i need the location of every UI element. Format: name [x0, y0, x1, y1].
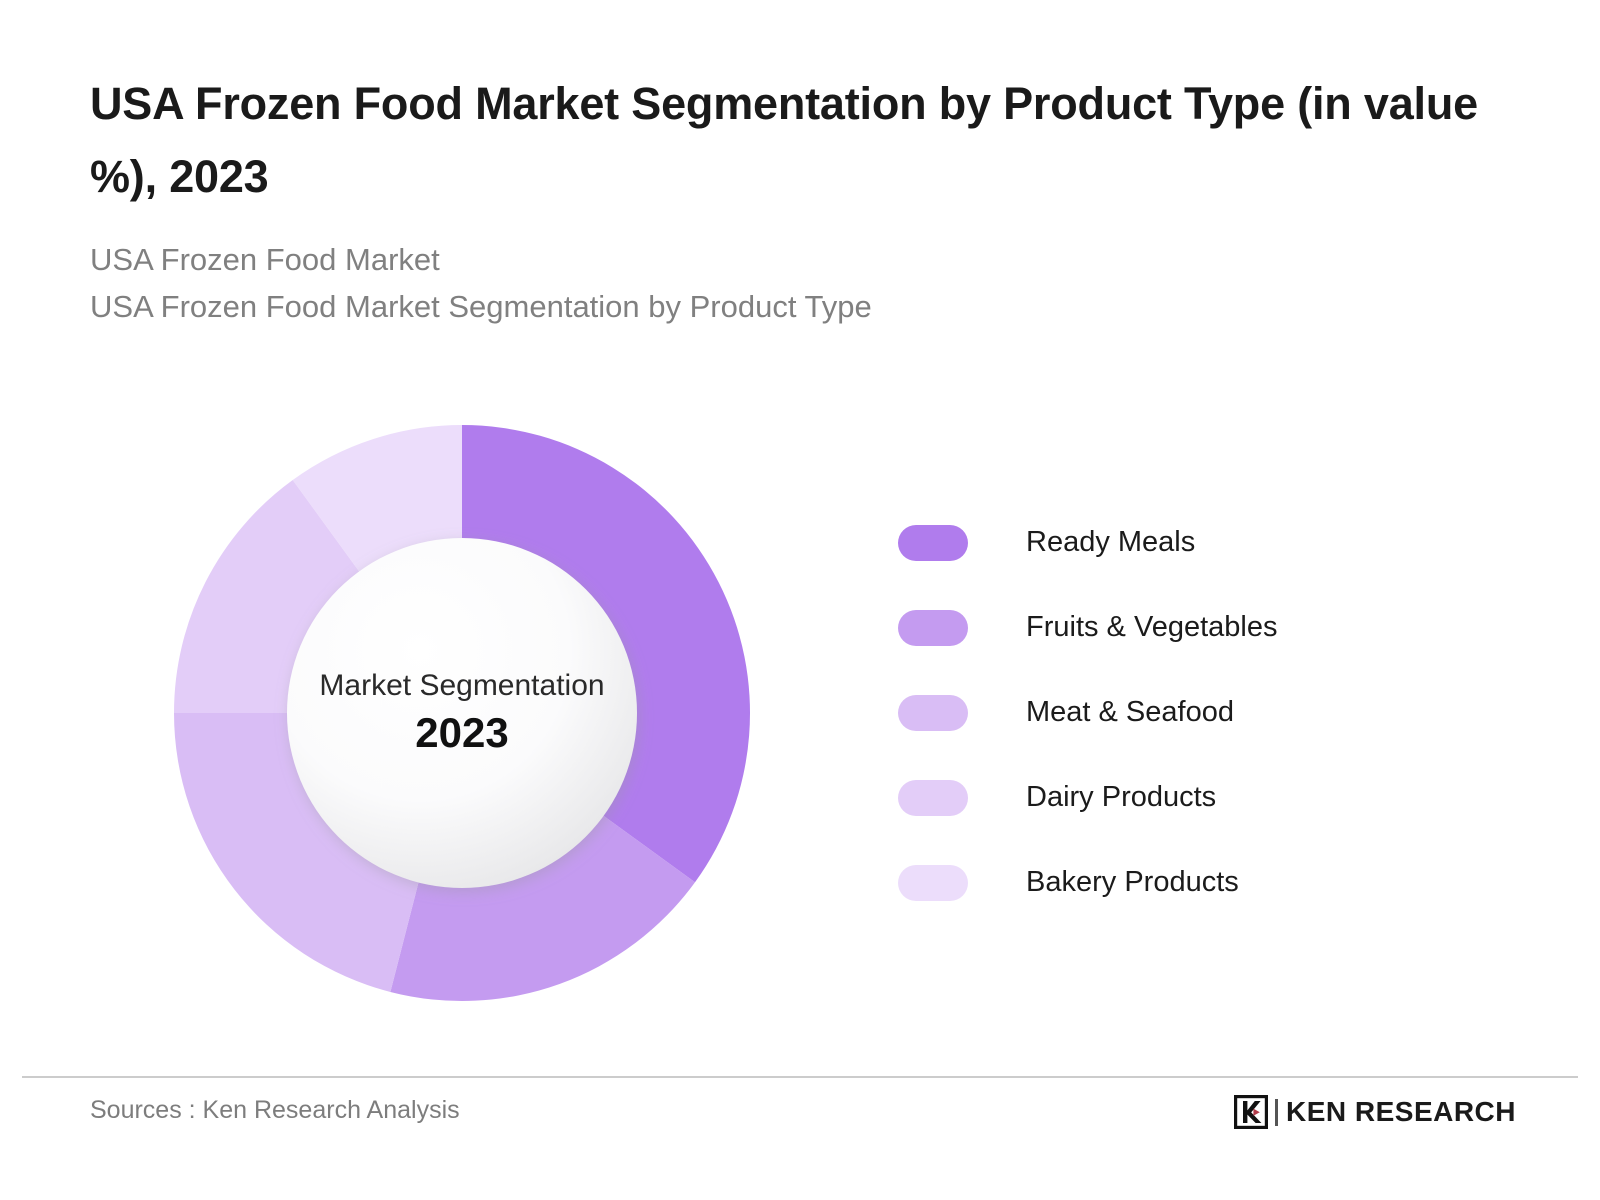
legend-swatch-icon: [898, 525, 968, 561]
chart-area: Market Segmentation 2023 Ready MealsFrui…: [0, 400, 1600, 1040]
legend-swatch-icon: [898, 610, 968, 646]
legend-item[interactable]: Dairy Products: [898, 755, 1498, 840]
ken-research-k-mark-icon: [1234, 1095, 1268, 1129]
page-title: USA Frozen Food Market Segmentation by P…: [90, 68, 1510, 214]
subtitle-block: USA Frozen Food Market USA Frozen Food M…: [90, 236, 1510, 330]
legend-item[interactable]: Ready Meals: [898, 500, 1498, 585]
donut-chart-svg: [172, 423, 752, 1003]
legend-swatch-icon: [898, 695, 968, 731]
brand-divider: [1275, 1099, 1278, 1126]
slide-canvas: USA Frozen Food Market Segmentation by P…: [0, 0, 1600, 1200]
legend-item-label: Dairy Products: [1026, 781, 1216, 814]
legend-item-label: Bakery Products: [1026, 866, 1239, 899]
subtitle-line-2: USA Frozen Food Market Segmentation by P…: [90, 283, 1510, 330]
footer: Sources : Ken Research Analysis KEN RESE…: [0, 1076, 1600, 1200]
legend-swatch-icon: [898, 780, 968, 816]
source-text: Sources : Ken Research Analysis: [90, 1096, 460, 1125]
subtitle-line-1: USA Frozen Food Market: [90, 236, 1510, 283]
legend-item-label: Meat & Seafood: [1026, 696, 1234, 729]
chart-legend: Ready MealsFruits & VegetablesMeat & Sea…: [898, 500, 1498, 925]
brand-logo: KEN RESEARCH: [1234, 1092, 1516, 1132]
legend-item-label: Ready Meals: [1026, 526, 1195, 559]
donut-chart: Market Segmentation 2023: [172, 423, 752, 1003]
legend-item[interactable]: Fruits & Vegetables: [898, 585, 1498, 670]
legend-item[interactable]: Bakery Products: [898, 840, 1498, 925]
donut-center-hole: [287, 538, 637, 888]
legend-item-label: Fruits & Vegetables: [1026, 611, 1277, 644]
brand-name: KEN RESEARCH: [1286, 1096, 1516, 1128]
header: USA Frozen Food Market Segmentation by P…: [90, 68, 1510, 330]
legend-swatch-icon: [898, 865, 968, 901]
legend-item[interactable]: Meat & Seafood: [898, 670, 1498, 755]
